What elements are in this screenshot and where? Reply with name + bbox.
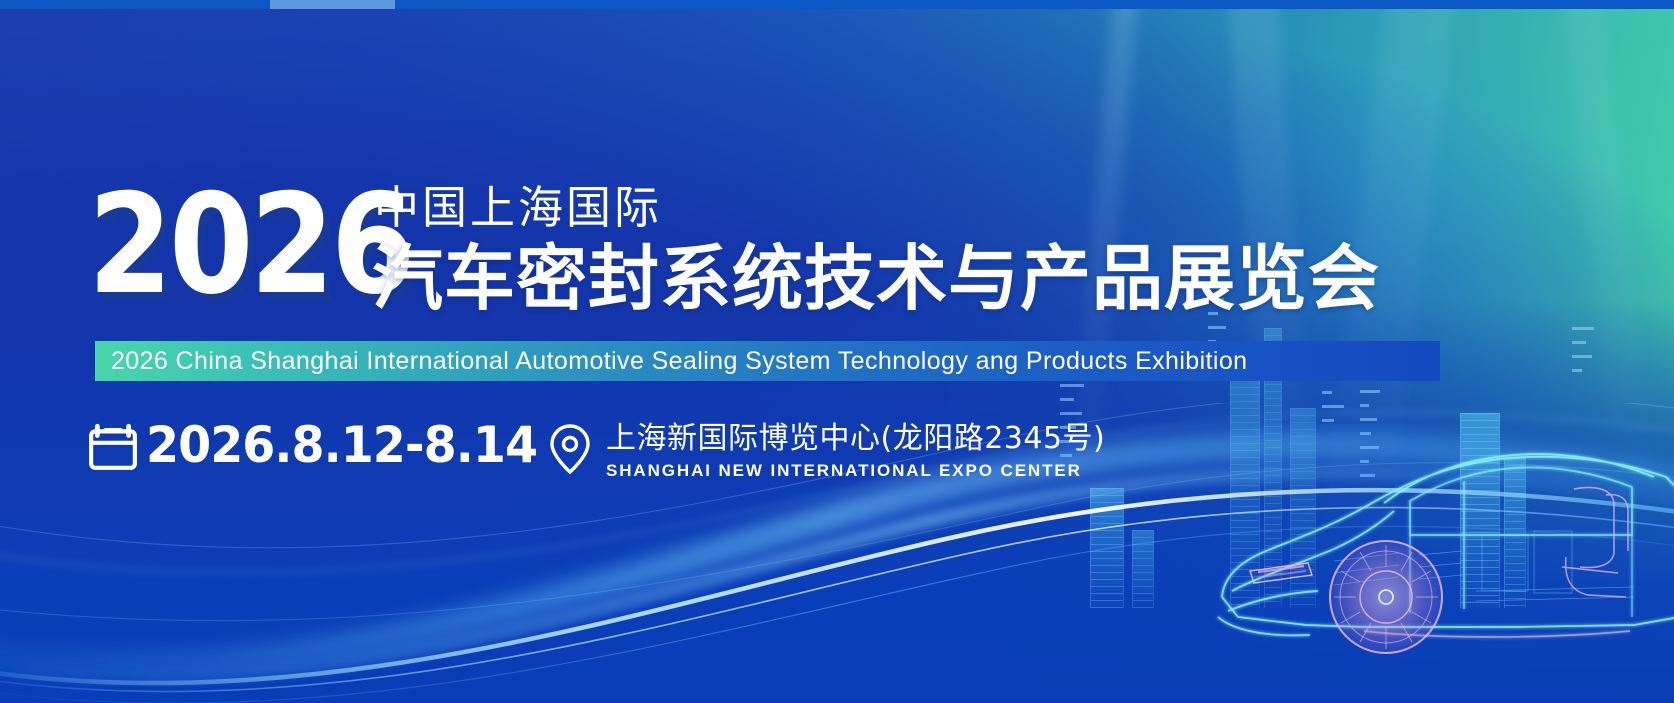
location-pin-icon [548, 423, 592, 475]
date-row: 2026.8.12-8.14 [88, 418, 558, 472]
venue-name-en: SHANGHAI NEW INTERNATIONAL EXPO CENTER [606, 461, 1105, 481]
venue-text: 上海新国际博览中心(龙阳路2345号) SHANGHAI NEW INTERNA… [606, 423, 1105, 481]
exhibition-banner: 2026 中国上海国际 汽车密封系统技术与产品展览会 2026 China Sh… [0, 0, 1674, 703]
subtitle-en: 2026 China Shanghai International Automo… [111, 345, 1451, 377]
calendar-icon [88, 422, 138, 472]
page-title: 汽车密封系统技术与产品展览会 [372, 243, 1380, 314]
headline-subtitle-cn: 中国上海国际 [374, 185, 662, 230]
venue-name-cn: 上海新国际博览中心(龙阳路2345号) [606, 423, 1105, 455]
venue-block: 上海新国际博览中心(龙阳路2345号) SHANGHAI NEW INTERNA… [548, 423, 1105, 481]
event-year: 2026 [88, 176, 412, 314]
banner-content: 2026 中国上海国际 汽车密封系统技术与产品展览会 2026 China Sh… [0, 0, 1674, 703]
event-date-block: 2026.8.12-8.14 [88, 418, 558, 472]
event-date: 2026.8.12-8.14 [146, 420, 537, 470]
